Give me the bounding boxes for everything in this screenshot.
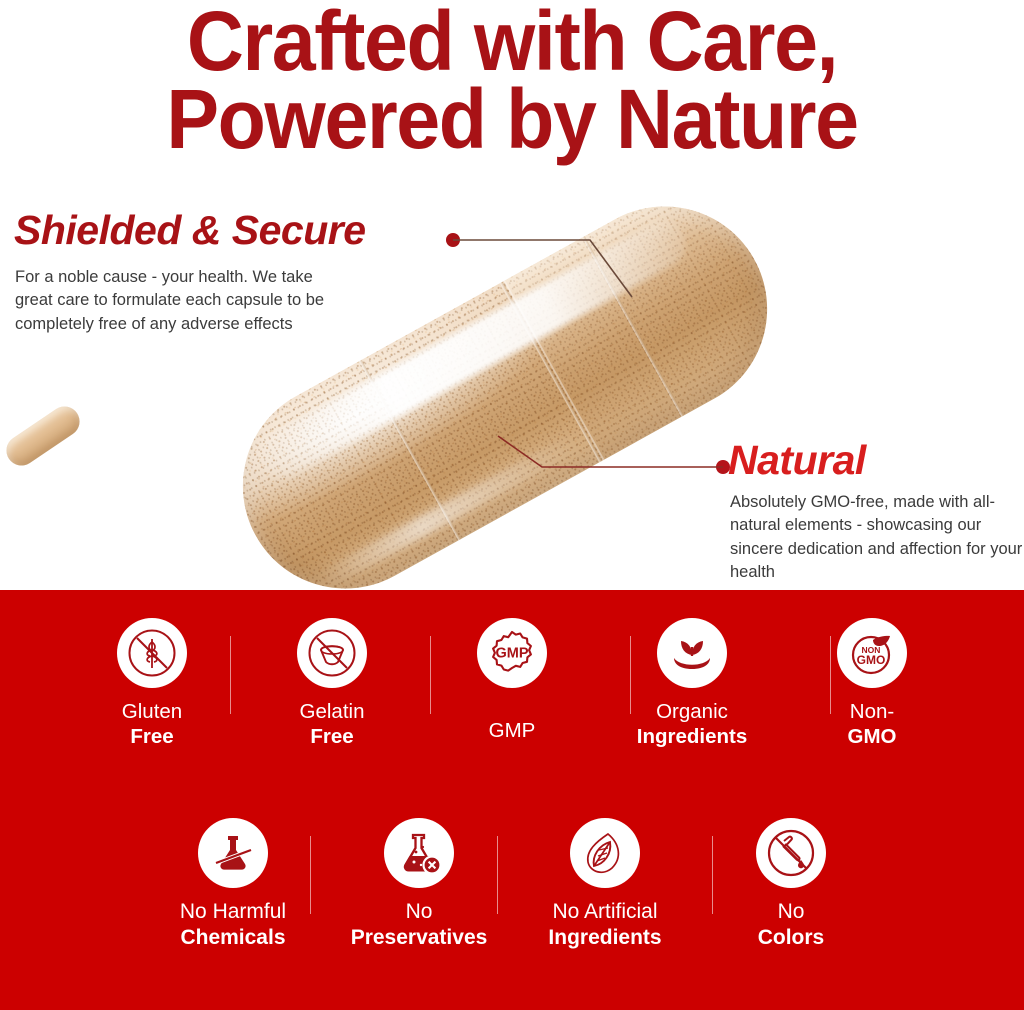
badge-no-harmful-chemicals: No Harmful Chemicals [140, 818, 326, 950]
badge-label-line-2: Chemicals [180, 925, 286, 951]
badge-label: Non- GMO [848, 699, 897, 749]
badge-label-line-1: No Harmful [180, 899, 286, 925]
badge-divider [630, 636, 631, 714]
no-preservatives-flask-icon [384, 818, 454, 888]
no-harmful-chemicals-icon [198, 818, 268, 888]
svg-text:GMP: GMP [495, 646, 528, 662]
badge-no-colors: No Colors [698, 818, 884, 950]
badge-label: Gelatin Free [300, 699, 365, 749]
leader-line-shielded [440, 225, 650, 315]
organic-plant-hand-icon [657, 618, 727, 688]
svg-text:GMO: GMO [857, 653, 886, 667]
infographic-page: Crafted with Care, Powered by Nature Shi… [0, 0, 1024, 1010]
badge-label: GMP [489, 718, 536, 743]
capsule-icon [1, 401, 86, 472]
badge-label-line-1: GMP [489, 719, 536, 742]
badge-label-line-1: No [758, 899, 825, 925]
badge-label-line-1: Gelatin [300, 699, 365, 724]
no-gelatin-icon [297, 618, 367, 688]
badge-label-line-1: Organic [637, 699, 748, 724]
badge-divider [430, 636, 431, 714]
badge-label-line-1: Non- [848, 699, 897, 724]
page-title-line-1: Crafted with Care, [31, 2, 994, 80]
badge-gmp: GMP GMP [422, 618, 602, 749]
callout-body-natural: Absolutely GMO-free, made with all-natur… [730, 491, 1024, 585]
badge-label-line-2: GMO [848, 724, 897, 749]
no-colors-dropper-icon [756, 818, 826, 888]
badge-label-line-2: Ingredients [637, 724, 748, 749]
badge-label-line-2: Free [122, 724, 182, 749]
no-artificial-leaf-icon [570, 818, 640, 888]
badge-gluten-free: Gluten Free [62, 618, 242, 749]
non-gmo-icon: NON GMO [837, 618, 907, 688]
badge-divider [712, 836, 713, 914]
page-title: Crafted with Care, Powered by Nature [31, 2, 994, 158]
callout-body-shielded: For a noble cause - your health. We take… [15, 266, 325, 336]
callout-title-natural: Natural [728, 437, 866, 484]
certification-panel: Gluten Free Gelatin Free [0, 590, 1024, 1010]
badge-label-line-2: Colors [758, 925, 825, 951]
badge-label: No Colors [758, 899, 825, 950]
no-gluten-icon [117, 618, 187, 688]
badge-label-line-2: Preservatives [351, 925, 488, 951]
badge-label: Organic Ingredients [637, 699, 748, 749]
badge-label: No Preservatives [351, 899, 488, 950]
leader-line-natural [490, 430, 740, 485]
badge-non-gmo: NON GMO Non- GMO [782, 618, 962, 749]
badge-divider [310, 836, 311, 914]
badge-row-2: No Harmful Chemicals [0, 818, 1024, 950]
callout-title-shielded: Shielded & Secure [14, 207, 366, 254]
badge-label: Gluten Free [122, 699, 182, 749]
badge-gelatin-free: Gelatin Free [242, 618, 422, 749]
badge-row-1: Gluten Free Gelatin Free [0, 618, 1024, 749]
badge-label-line-2: Ingredients [548, 925, 661, 951]
page-title-line-2: Powered by Nature [31, 80, 994, 158]
badge-label-line-1: Gluten [122, 699, 182, 724]
badge-no-preservatives: No Preservatives [326, 818, 512, 950]
badge-organic-ingredients: Organic Ingredients [602, 618, 782, 749]
badge-label: No Harmful Chemicals [180, 899, 286, 950]
badge-label: No Artificial Ingredients [548, 899, 661, 950]
badge-label-line-2: Free [300, 724, 365, 749]
badge-divider [497, 836, 498, 914]
badge-label-line-1: No [351, 899, 488, 925]
badge-no-artificial-ingredients: No Artificial Ingredients [512, 818, 698, 950]
gmp-seal-icon: GMP [477, 618, 547, 688]
badge-divider [830, 636, 831, 714]
badge-divider [230, 636, 231, 714]
badge-label-line-1: No Artificial [548, 899, 661, 925]
